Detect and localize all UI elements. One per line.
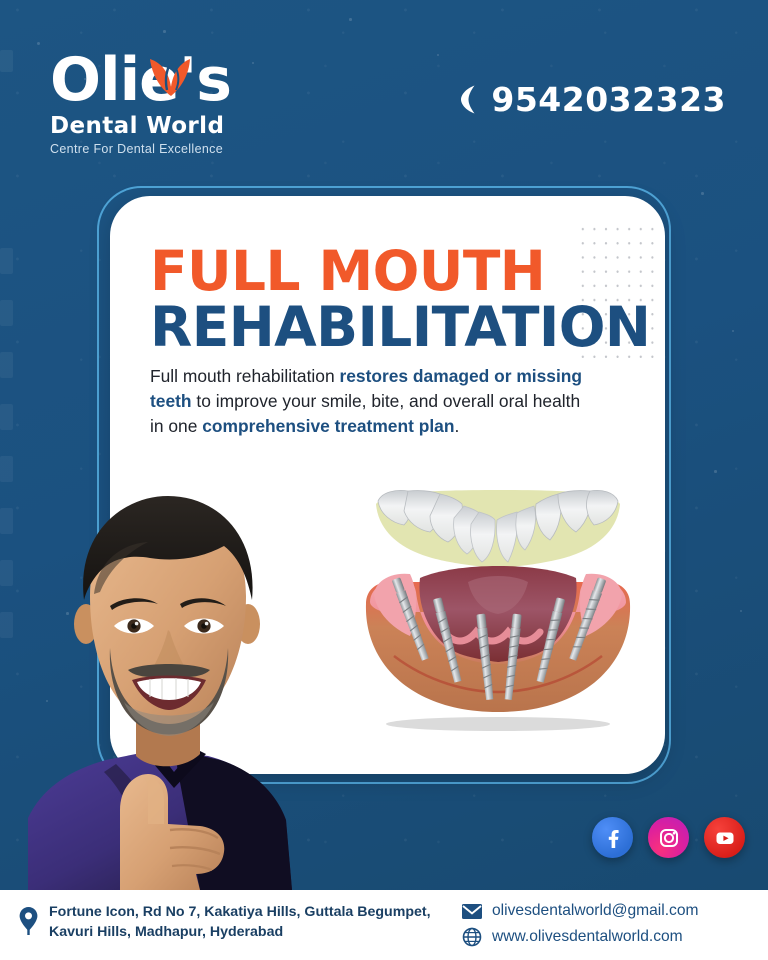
dental-implants-illustration: [348, 486, 648, 736]
address-block: Fortune Icon, Rd No 7, Kakatiya Hills, G…: [18, 902, 431, 942]
decor-bar: [0, 560, 13, 586]
body-seg-1: Full mouth rehabilitation: [150, 366, 339, 386]
brand-logo: Olie's Dental World Centre For Dental Ex…: [50, 48, 350, 156]
email-address: olivesdentalworld@gmail.com: [492, 900, 699, 923]
decor-bar: [0, 404, 13, 430]
phone-icon: [458, 84, 478, 115]
smiling-patient-thumbs-up-photo: [24, 488, 314, 890]
contact-block: olivesdentalworld@gmail.com www.olivesde…: [462, 900, 699, 951]
decor-speckle: [714, 470, 717, 473]
headline-top: FULL MOUTH: [150, 244, 650, 298]
social-links: [592, 817, 745, 858]
upper-denture: [376, 490, 620, 568]
decor-bar: [0, 248, 13, 274]
globe-icon: [462, 927, 482, 947]
email-row[interactable]: olivesdentalworld@gmail.com: [462, 900, 699, 923]
logo-wordmark: Olie's: [50, 48, 350, 112]
logo-tagline: Centre For Dental Excellence: [50, 142, 350, 156]
address-line-1: Fortune Icon, Rd No 7, Kakatiya Hills, G…: [49, 902, 431, 922]
logo-word-before: Oli: [50, 45, 139, 115]
poster-header: Olie's Dental World Centre For Dental Ex…: [0, 0, 768, 190]
body-seg-4-bold: comprehensive treatment plan: [202, 416, 454, 436]
body-seg-5: .: [454, 416, 459, 436]
decor-speckle: [740, 610, 742, 612]
decor-speckle: [732, 330, 734, 332]
decor-bar: [0, 508, 13, 534]
address-line-2: Kavuri Hills, Madhapur, Hyderabad: [49, 922, 431, 942]
decor-bar: [0, 300, 13, 326]
decor-bar: [0, 456, 13, 482]
body-copy: Full mouth rehabilitation restores damag…: [150, 364, 590, 439]
lower-jaw: [366, 566, 630, 712]
phone-number: 9542032323: [491, 80, 726, 119]
decor-speckle: [701, 192, 704, 195]
facebook-icon[interactable]: [592, 817, 633, 858]
decor-bar: [0, 612, 13, 638]
olive-leaf-icon: [146, 56, 192, 100]
website-row[interactable]: www.olivesdentalworld.com: [462, 926, 699, 949]
headline-group: FULL MOUTH REHABILITATION: [150, 244, 650, 355]
website-url: www.olivesdentalworld.com: [492, 926, 683, 949]
poster-footer: Fortune Icon, Rd No 7, Kakatiya Hills, G…: [0, 890, 768, 960]
location-pin-icon: [18, 906, 39, 936]
instagram-icon[interactable]: [648, 817, 689, 858]
phone-contact[interactable]: 9542032323: [458, 80, 726, 119]
envelope-icon: [462, 904, 482, 919]
youtube-icon[interactable]: [704, 817, 745, 858]
decor-bar: [0, 352, 13, 378]
poster-background: Olie's Dental World Centre For Dental Ex…: [0, 0, 768, 960]
headline-bottom: REHABILITATION: [150, 300, 650, 354]
logo-subtitle: Dental World: [50, 113, 350, 139]
